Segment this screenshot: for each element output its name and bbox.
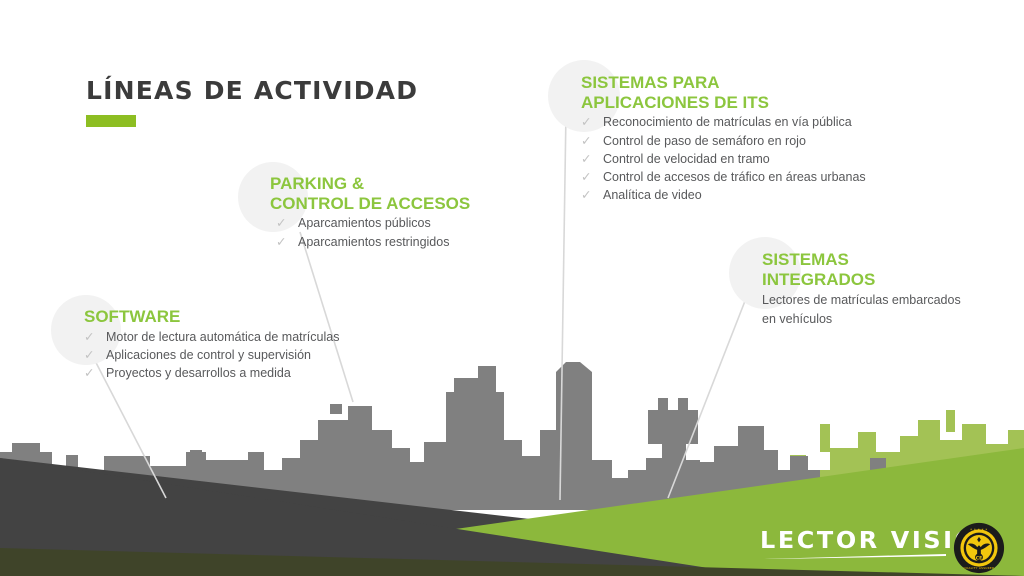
check-icon: ✓	[581, 132, 603, 150]
check-icon: ✓	[581, 150, 603, 168]
check-icon: ✓	[581, 168, 603, 186]
check-icon: ✓	[276, 233, 298, 251]
check-icon: ✓	[84, 328, 106, 346]
list-item-label: Aparcamientos restringidos	[298, 233, 449, 251]
callout-heading: SOFTWARE	[84, 307, 339, 327]
callout-heading: SISTEMAS PARA APLICACIONES DE ITS	[581, 73, 866, 112]
callout-parking: PARKING & CONTROL DE ACCESOS ✓ Aparcamie…	[270, 174, 470, 251]
list-item-label: Control de paso de semáforo en rojo	[603, 132, 806, 150]
callout-heading: PARKING & CONTROL DE ACCESOS	[270, 174, 470, 213]
brand-logo: LECTOR VISION CE * * * * * QUALITY ASSUR…	[760, 528, 991, 554]
list-item: ✓ Analítica de video	[581, 186, 866, 204]
badge-top-text: * * * * *	[970, 528, 988, 532]
callout-list: ✓ Reconocimiento de matrículas en vía pú…	[581, 113, 866, 204]
logo-swoosh	[764, 554, 946, 559]
list-item-label: Aparcamientos públicos	[298, 214, 431, 232]
title-accent-rule	[86, 115, 136, 127]
callout-its: SISTEMAS PARA APLICACIONES DE ITS ✓ Reco…	[581, 73, 866, 205]
list-item-label: Control de accesos de tráfico en áreas u…	[603, 168, 866, 186]
list-item: ✓ Aparcamientos restringidos	[276, 233, 470, 251]
list-item: ✓ Reconocimiento de matrículas en vía pú…	[581, 113, 866, 131]
list-item: ✓ Control de velocidad en tramo	[581, 150, 866, 168]
check-icon: ✓	[581, 186, 603, 204]
page-title-block: LÍNEAS DE ACTIVIDAD	[86, 76, 418, 127]
callout-list: ✓ Aparcamientos públicos ✓ Aparcamientos…	[276, 214, 470, 251]
check-icon: ✓	[581, 113, 603, 131]
list-item-label: Proyectos y desarrollos a medida	[106, 364, 291, 382]
check-icon: ✓	[84, 364, 106, 382]
list-item: ✓ Control de paso de semáforo en rojo	[581, 132, 866, 150]
list-item-label: Control de velocidad en tramo	[603, 150, 770, 168]
check-icon: ✓	[276, 214, 298, 232]
check-icon: ✓	[84, 346, 106, 364]
list-item-label: Reconocimiento de matrículas en vía públ…	[603, 113, 852, 131]
callout-heading: SISTEMAS INTEGRADOS	[762, 250, 961, 289]
list-item: ✓ Aparcamientos públicos	[276, 214, 470, 232]
list-item: ✓ Aplicaciones de control y supervisión	[84, 346, 339, 364]
list-item: ✓ Motor de lectura automática de matrícu…	[84, 328, 339, 346]
list-item-label: Aplicaciones de control y supervisión	[106, 346, 311, 364]
certification-badge-icon: CE * * * * * QUALITY ASSURED	[953, 522, 1005, 574]
badge-center-text: CE	[976, 556, 983, 562]
callout-description: Lectores de matrículas embarcados en veh…	[762, 291, 961, 328]
list-item: ✓ Proyectos y desarrollos a medida	[84, 364, 339, 382]
callout-list: ✓ Motor de lectura automática de matrícu…	[84, 328, 339, 383]
callout-software: SOFTWARE ✓ Motor de lectura automática d…	[84, 307, 339, 382]
list-item-label: Motor de lectura automática de matrícula…	[106, 328, 339, 346]
list-item-label: Analítica de video	[603, 186, 702, 204]
callout-integrados: SISTEMAS INTEGRADOS Lectores de matrícul…	[762, 250, 961, 328]
list-item: ✓ Control de accesos de tráfico en áreas…	[581, 168, 866, 186]
slide-root: LÍNEAS DE ACTIVIDAD SISTEMAS PARA APLICA…	[0, 0, 1024, 576]
badge-bottom-text: QUALITY ASSURED	[964, 566, 996, 570]
page-title: LÍNEAS DE ACTIVIDAD	[86, 76, 418, 105]
